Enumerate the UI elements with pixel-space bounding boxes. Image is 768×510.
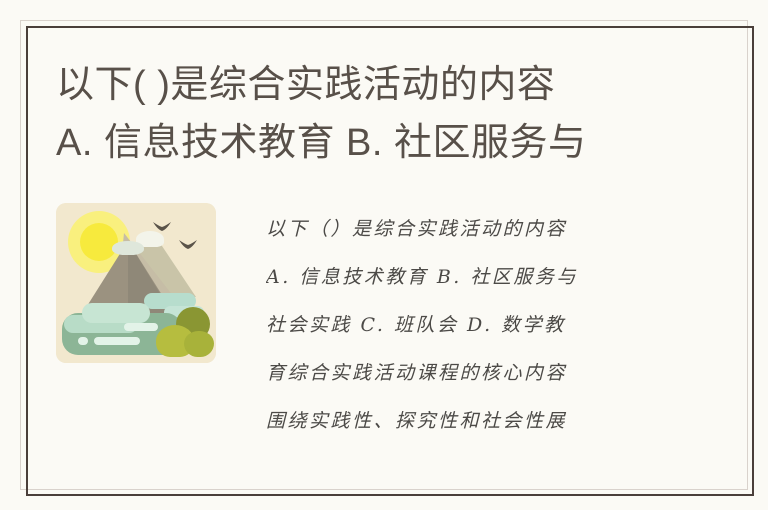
hand-line-4: 育综合实践活动课程的核心内容 bbox=[266, 349, 714, 397]
bird-icon bbox=[178, 239, 198, 250]
cloud-shape bbox=[82, 303, 150, 323]
page-title: 以下( )是综合实践活动的内容 A. 信息技术教育 B. 社区服务与 bbox=[56, 56, 752, 172]
hand-line-1: 以下（）是综合实践活动的内容 bbox=[266, 205, 714, 253]
landscape-thumbnail bbox=[56, 203, 216, 363]
question-card-page: 以下( )是综合实践活动的内容 A. 信息技术教育 B. 社区服务与 bbox=[0, 0, 768, 510]
water-ripple bbox=[124, 323, 158, 331]
bush-shape bbox=[184, 331, 214, 357]
water-ripple bbox=[78, 337, 88, 345]
headline-line-2: A. 信息技术教育 B. 社区服务与 bbox=[56, 114, 752, 172]
handwritten-answer-text: 以下（）是综合实践活动的内容 A. 信息技术教育 B. 社区服务与 社会实践 C… bbox=[266, 205, 714, 445]
card-surface: 以下( )是综合实践活动的内容 A. 信息技术教育 B. 社区服务与 bbox=[28, 28, 752, 494]
hand-line-2: A. 信息技术教育 B. 社区服务与 bbox=[266, 253, 714, 301]
bird-icon bbox=[152, 221, 172, 232]
main-mountain-snow-cap bbox=[112, 241, 144, 255]
hand-line-5: 围绕实践性、探究性和社会性展 bbox=[266, 397, 714, 445]
hand-line-3: 社会实践 C. 班队会 D. 数学教 bbox=[266, 301, 714, 349]
content-row: 以下（）是综合实践活动的内容 A. 信息技术教育 B. 社区服务与 社会实践 C… bbox=[56, 203, 752, 463]
water-ripple bbox=[94, 337, 140, 345]
headline-line-1: 以下( )是综合实践活动的内容 bbox=[56, 56, 752, 114]
